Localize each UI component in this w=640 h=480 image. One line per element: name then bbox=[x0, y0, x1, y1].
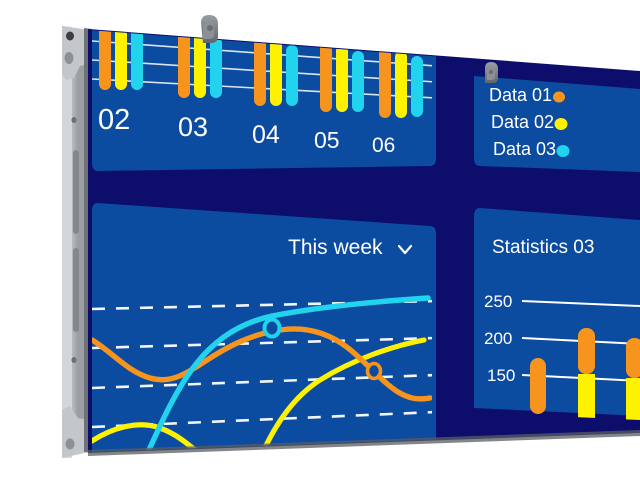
bar-tick-label-04: 04 bbox=[252, 121, 280, 149]
screw-hole bbox=[71, 357, 76, 363]
line-chart-panel[interactable]: This week bbox=[92, 203, 436, 470]
bar-tick-label-06: 06 bbox=[372, 134, 395, 157]
screw-hole bbox=[65, 52, 74, 64]
bar-group-06[interactable] bbox=[379, 46, 423, 118]
top-mount-clip-2 bbox=[485, 62, 498, 83]
bar-data03[interactable] bbox=[352, 51, 364, 112]
stats-bar-c[interactable] bbox=[626, 338, 640, 420]
legend-swatch-cyan bbox=[557, 145, 570, 157]
bracket-slot bbox=[73, 248, 79, 332]
legend-swatch-yellow bbox=[555, 118, 568, 130]
statistics-panel[interactable]: Statistics 03 250 200 150 bbox=[474, 208, 640, 420]
bar-data01[interactable] bbox=[320, 40, 332, 112]
bar-tick-label-02: 02 bbox=[98, 104, 130, 136]
screw-hole bbox=[71, 117, 76, 123]
legend-swatch-orange bbox=[553, 92, 565, 103]
legend-panel[interactable]: Data 01 Data 02 Data 03 bbox=[474, 76, 640, 172]
stats-bar-segment-orange[interactable] bbox=[530, 358, 546, 414]
stats-bar-segment-yellow[interactable] bbox=[578, 374, 595, 418]
legend-label: Data 02 bbox=[491, 112, 554, 132]
bar-data02[interactable] bbox=[395, 51, 407, 118]
bar-data01[interactable] bbox=[379, 46, 391, 118]
bar-data03[interactable] bbox=[131, 28, 143, 90]
bracket-slot bbox=[73, 150, 79, 234]
stats-panel-title: Statistics 03 bbox=[492, 237, 594, 258]
screw-hole bbox=[66, 32, 74, 41]
stats-ytick-200: 200 bbox=[484, 329, 512, 348]
line-marker-data01[interactable] bbox=[368, 364, 381, 379]
stats-ytick-250: 250 bbox=[484, 292, 512, 311]
legend-label: Data 01 bbox=[489, 85, 552, 105]
top-mount-clip-1 bbox=[201, 15, 218, 43]
bar-data02[interactable] bbox=[336, 45, 348, 112]
bar-data03[interactable] bbox=[411, 56, 423, 117]
legend-label: Data 03 bbox=[493, 139, 556, 159]
bar-data01[interactable] bbox=[254, 34, 266, 106]
led-wall-illustration: 02 03 04 05 06 Data 01 Data 02 Dat bbox=[0, 0, 640, 480]
bar-data03[interactable] bbox=[210, 37, 222, 98]
screw-hole bbox=[66, 439, 75, 450]
line-marker-data03[interactable] bbox=[265, 320, 280, 337]
stats-ytick-150: 150 bbox=[487, 366, 515, 385]
stats-bar-segment-orange[interactable] bbox=[578, 328, 595, 374]
stats-bar-segment-orange[interactable] bbox=[626, 338, 640, 378]
bar-data03[interactable] bbox=[286, 45, 298, 106]
bar-tick-label-03: 03 bbox=[178, 112, 208, 142]
stats-bar-segment-yellow[interactable] bbox=[626, 378, 640, 420]
screenshot-stage: 02 03 04 05 06 Data 01 Data 02 Dat bbox=[0, 0, 640, 480]
bar-tick-label-05: 05 bbox=[314, 127, 340, 153]
dropdown-label: This week bbox=[288, 236, 383, 259]
stats-bar-a[interactable] bbox=[530, 358, 546, 414]
bar-data02[interactable] bbox=[270, 39, 282, 106]
